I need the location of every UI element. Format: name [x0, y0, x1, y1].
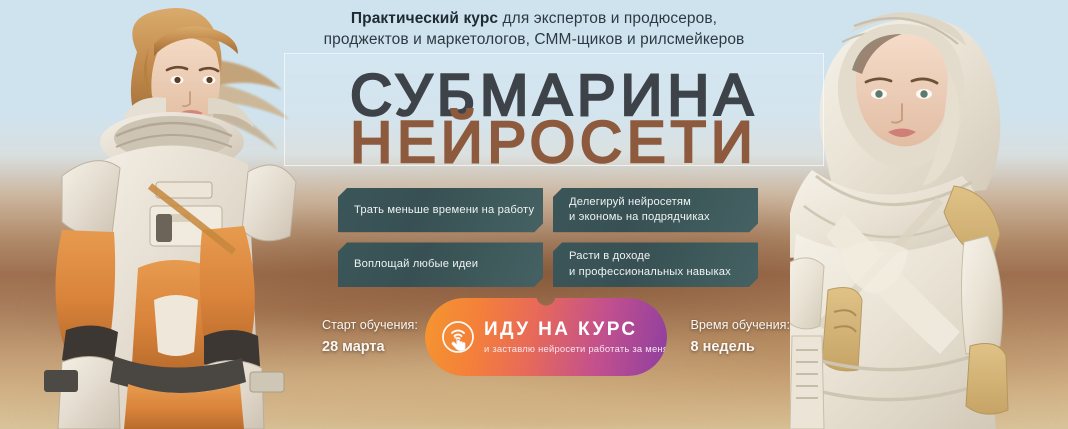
- benefit-3-line-1: Воплощай любые идеи: [354, 257, 529, 272]
- benefit-4-line-2: и профессиональных навыках: [569, 265, 744, 280]
- course-duration-label: Время обучения:: [691, 318, 791, 332]
- cta-subtitle: и заставлю нейросети работать за меня: [484, 343, 668, 354]
- page-title-secondary: НЕЙРОСЕТИ: [285, 109, 823, 176]
- benefit-chip-1: Трать меньше времени на работу: [338, 188, 543, 232]
- course-start-info: Старт обучения: 28 марта: [322, 316, 418, 359]
- promo-banner: Практический курс для экспертов и продюс…: [0, 0, 1068, 429]
- cta-row: Старт обучения: 28 марта ИДУ НА КУРС и з…: [300, 298, 790, 382]
- tap-hand-icon: [441, 320, 475, 354]
- benefit-2-line-2: и экономь на подрядчиках: [569, 210, 744, 225]
- enroll-button[interactable]: ИДУ НА КУРС и заставлю нейросети работат…: [425, 298, 667, 376]
- benefit-chip-4: Расти в доходе и профессиональных навыка…: [553, 242, 758, 286]
- benefit-chip-3: Воплощай любые идеи: [338, 242, 543, 286]
- kicker-text: Практический курс для экспертов и продюс…: [0, 8, 1068, 51]
- benefit-chip-2: Делегируй нейросетям и экономь на подряд…: [553, 188, 758, 232]
- cta-title: ИДУ НА КУРС: [484, 320, 668, 340]
- benefit-2-line-1: Делегируй нейросетям: [569, 195, 744, 210]
- benefit-4-line-1: Расти в доходе: [569, 249, 744, 264]
- benefit-1-line-1: Трать меньше времени на работу: [354, 203, 529, 218]
- kicker-strong: Практический курс: [351, 10, 498, 27]
- cta-text-group: ИДУ НА КУРС и заставлю нейросети работат…: [484, 320, 668, 355]
- benefits-list: Трать меньше времени на работу Делегируй…: [338, 188, 758, 287]
- kicker-line-1: Практический курс для экспертов и продюс…: [0, 8, 1068, 29]
- course-duration-value: 8 недель: [691, 337, 791, 359]
- course-start-label: Старт обучения:: [322, 318, 418, 332]
- title-frame: СУБМАРИНА НЕЙРОСЕТИ: [284, 53, 824, 166]
- kicker-rest: для экспертов и продюсеров,: [498, 10, 717, 27]
- course-duration-info: Время обучения: 8 недель: [691, 316, 791, 359]
- kicker-line-2: проджектов и маркетологов, СММ-щиков и р…: [0, 29, 1068, 50]
- course-start-value: 28 марта: [322, 337, 418, 359]
